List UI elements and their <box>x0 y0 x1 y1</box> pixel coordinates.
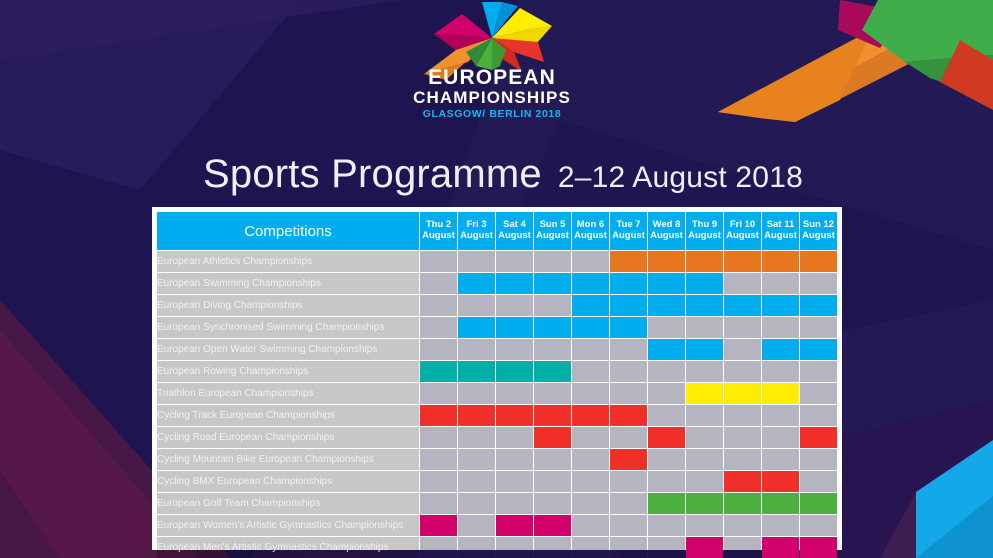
header-day-8: Thu 9August <box>686 212 723 250</box>
schedule-cell-empty <box>458 339 495 360</box>
schedule-cell-empty <box>496 383 533 404</box>
schedule-cell-orange <box>648 251 685 272</box>
schedule-cell-cyan <box>610 295 647 316</box>
schedule-cell-cyan <box>648 339 685 360</box>
schedule-cell-teal <box>458 361 495 382</box>
schedule-cell-teal <box>534 361 571 382</box>
schedule-cell-empty <box>648 537 685 558</box>
schedule-grid: Competitions Thu 2AugustFri 3AugustSat 4… <box>156 211 838 558</box>
schedule-cell-empty <box>420 493 457 514</box>
schedule-cell-green <box>648 493 685 514</box>
page-title-dates: 2–12 August 2018 <box>558 161 803 195</box>
schedule-cell-empty <box>610 537 647 558</box>
page-title: Sports Programme 2–12 August 2018 <box>203 152 803 197</box>
schedule-cell-empty <box>534 383 571 404</box>
schedule-cell-empty <box>458 471 495 492</box>
competition-label: European Golf Team Championships <box>157 493 419 514</box>
schedule-cell-empty <box>724 317 761 338</box>
competition-label: Cycling Mountain Bike European Champions… <box>157 449 419 470</box>
schedule-cell-cyan <box>496 273 533 294</box>
header-day-month: August <box>648 231 685 242</box>
competition-label: European Men's Artistic Gymnastics Champ… <box>157 537 419 558</box>
header-day-month: August <box>534 231 571 242</box>
schedule-cell-empty <box>420 427 457 448</box>
schedule-cell-red <box>724 471 761 492</box>
schedule-cell-empty <box>572 449 609 470</box>
schedule-cell-cyan <box>648 295 685 316</box>
schedule-cell-empty <box>648 317 685 338</box>
header-day-7: Wed 8August <box>648 212 685 250</box>
header-day-2: Fri 3August <box>458 212 495 250</box>
schedule-cell-empty <box>724 405 761 426</box>
schedule-cell-empty <box>762 361 799 382</box>
table-row: European Men's Artistic Gymnastics Champ… <box>157 537 837 558</box>
schedule-cell-empty <box>724 537 761 558</box>
schedule-head: Competitions Thu 2AugustFri 3AugustSat 4… <box>157 212 837 250</box>
schedule-cell-empty <box>648 383 685 404</box>
schedule-cell-cyan <box>762 295 799 316</box>
header-row: Competitions Thu 2AugustFri 3AugustSat 4… <box>157 212 837 250</box>
schedule-cell-empty <box>496 537 533 558</box>
schedule-cell-empty <box>458 427 495 448</box>
schedule-cell-pink <box>686 537 723 558</box>
schedule-cell-cyan <box>648 273 685 294</box>
schedule-cell-orange <box>762 251 799 272</box>
schedule-cell-empty <box>686 449 723 470</box>
schedule-cell-empty <box>458 295 495 316</box>
schedule-cell-empty <box>800 471 837 492</box>
schedule-cell-empty <box>800 317 837 338</box>
page-title-main: Sports Programme <box>203 152 542 197</box>
schedule-cell-empty <box>420 317 457 338</box>
header-day-3: Sat 4August <box>496 212 533 250</box>
table-row: Cycling BMX European Championships <box>157 471 837 492</box>
schedule-cell-empty <box>800 449 837 470</box>
schedule-cell-teal <box>496 361 533 382</box>
schedule-cell-cyan <box>458 273 495 294</box>
schedule-cell-cyan <box>686 295 723 316</box>
schedule-cell-red <box>496 405 533 426</box>
schedule-cell-empty <box>762 273 799 294</box>
schedule-cell-empty <box>534 449 571 470</box>
schedule-cell-empty <box>762 317 799 338</box>
schedule-cell-cyan <box>762 339 799 360</box>
header-day-month: August <box>610 231 647 242</box>
schedule-cell-yellow <box>762 383 799 404</box>
schedule-cell-empty <box>610 493 647 514</box>
schedule-cell-empty <box>458 449 495 470</box>
competition-label: Cycling Track European Championships <box>157 405 419 426</box>
schedule-cell-pink <box>800 537 837 558</box>
schedule-cell-empty <box>534 493 571 514</box>
schedule-cell-red <box>800 427 837 448</box>
schedule-cell-empty <box>458 515 495 536</box>
schedule-cell-red <box>610 405 647 426</box>
european-championships-logo: EUROPEAN CHAMPIONSHIPS GLASGOW/ BERLIN 2… <box>406 0 578 124</box>
table-row: Cycling Track European Championships <box>157 405 837 426</box>
schedule-cell-pink <box>762 537 799 558</box>
schedule-cell-red <box>420 405 457 426</box>
schedule-cell-pink <box>534 515 571 536</box>
schedule-cell-empty <box>534 251 571 272</box>
schedule-cell-cyan <box>686 273 723 294</box>
schedule-cell-red <box>534 405 571 426</box>
schedule-cell-empty <box>572 471 609 492</box>
header-day-month: August <box>420 231 457 242</box>
schedule-cell-empty <box>534 295 571 316</box>
table-row: European Golf Team Championships <box>157 493 837 514</box>
schedule-cell-cyan <box>686 339 723 360</box>
schedule-cell-empty <box>458 537 495 558</box>
schedule-cell-empty <box>800 515 837 536</box>
table-row: European Swimming Championships <box>157 273 837 294</box>
schedule-cell-green <box>686 493 723 514</box>
schedule-cell-empty <box>496 493 533 514</box>
competition-label: Cycling Road European Championships <box>157 427 419 448</box>
table-row: European Open Water Swimming Championshi… <box>157 339 837 360</box>
schedule-cell-empty <box>458 493 495 514</box>
schedule-cell-empty <box>686 471 723 492</box>
schedule-cell-cyan <box>534 273 571 294</box>
header-day-month: August <box>724 231 761 242</box>
schedule-cell-empty <box>420 383 457 404</box>
schedule-cell-orange <box>686 251 723 272</box>
schedule-cell-pink <box>496 515 533 536</box>
schedule-cell-cyan <box>800 339 837 360</box>
schedule-cell-cyan <box>572 295 609 316</box>
table-row: Triathlon European Championships <box>157 383 837 404</box>
header-day-month: August <box>762 231 799 242</box>
schedule-cell-empty <box>496 427 533 448</box>
schedule-cell-empty <box>572 361 609 382</box>
schedule-cell-cyan <box>572 317 609 338</box>
header-day-10: Sat 11August <box>762 212 799 250</box>
competition-label: European Open Water Swimming Championshi… <box>157 339 419 360</box>
schedule-cell-empty <box>800 273 837 294</box>
schedule-cell-red <box>572 405 609 426</box>
schedule-cell-empty <box>420 537 457 558</box>
header-day-month: August <box>458 231 495 242</box>
schedule-cell-green <box>762 493 799 514</box>
schedule-cell-empty <box>420 295 457 316</box>
logo-text-european: EUROPEAN <box>406 66 578 90</box>
schedule-cell-red <box>610 449 647 470</box>
schedule-cell-cyan <box>534 317 571 338</box>
schedule-cell-empty <box>724 515 761 536</box>
header-day-month: August <box>686 231 723 242</box>
schedule-cell-empty <box>572 427 609 448</box>
schedule-cell-empty <box>610 383 647 404</box>
schedule-cell-empty <box>496 471 533 492</box>
schedule-cell-empty <box>610 471 647 492</box>
schedule-cell-empty <box>420 471 457 492</box>
schedule-cell-red <box>762 471 799 492</box>
header-day-1: Thu 2August <box>420 212 457 250</box>
table-row: European Diving Championships <box>157 295 837 316</box>
table-row: European Women's Artistic Gymnastics Cha… <box>157 515 837 536</box>
schedule-cell-empty <box>686 405 723 426</box>
schedule-cell-green <box>800 493 837 514</box>
schedule-cell-empty <box>724 361 761 382</box>
header-day-month: August <box>496 231 533 242</box>
table-row: European Athletics Championships <box>157 251 837 272</box>
schedule-cell-empty <box>648 515 685 536</box>
schedule-cell-empty <box>420 449 457 470</box>
table-row: Cycling Road European Championships <box>157 427 837 448</box>
schedule-cell-empty <box>724 449 761 470</box>
schedule-cell-empty <box>572 251 609 272</box>
competition-label: European Diving Championships <box>157 295 419 316</box>
schedule-cell-empty <box>496 295 533 316</box>
schedule-cell-empty <box>572 339 609 360</box>
schedule-cell-empty <box>648 449 685 470</box>
logo-text-championships: CHAMPIONSHIPS <box>406 88 578 108</box>
schedule-cell-empty <box>496 449 533 470</box>
schedule-cell-empty <box>762 515 799 536</box>
schedule-cell-empty <box>762 427 799 448</box>
competition-label: European Women's Artistic Gymnastics Cha… <box>157 515 419 536</box>
schedule-cell-green <box>724 493 761 514</box>
schedule-cell-cyan <box>724 295 761 316</box>
schedule-cell-empty <box>610 427 647 448</box>
schedule-cell-empty <box>534 471 571 492</box>
schedule-cell-cyan <box>572 273 609 294</box>
schedule-cell-cyan <box>610 273 647 294</box>
schedule-cell-orange <box>800 251 837 272</box>
schedule-cell-empty <box>420 339 457 360</box>
schedule-cell-empty <box>458 251 495 272</box>
header-day-month: August <box>572 231 609 242</box>
competition-label: European Athletics Championships <box>157 251 419 272</box>
header-day-5: Mon 6August <box>572 212 609 250</box>
schedule-cell-empty <box>762 449 799 470</box>
schedule-body: European Athletics ChampionshipsEuropean… <box>157 251 837 558</box>
schedule-cell-empty <box>648 405 685 426</box>
schedule-cell-pink <box>420 515 457 536</box>
schedule-cell-teal <box>420 361 457 382</box>
schedule-cell-empty <box>762 405 799 426</box>
competition-label: Cycling BMX European Championships <box>157 471 419 492</box>
table-row: European Synchronised Swimming Champions… <box>157 317 837 338</box>
competition-label: European Rowing Championships <box>157 361 419 382</box>
header-competitions: Competitions <box>157 212 419 250</box>
schedule-cell-orange <box>610 251 647 272</box>
schedule-cell-red <box>648 427 685 448</box>
poster-canvas: EUROPEAN CHAMPIONSHIPS GLASGOW/ BERLIN 2… <box>0 0 993 558</box>
schedule-cell-empty <box>724 339 761 360</box>
schedule-cell-red <box>534 427 571 448</box>
schedule-cell-empty <box>572 537 609 558</box>
schedule-cell-empty <box>724 427 761 448</box>
schedule-cell-empty <box>686 427 723 448</box>
schedule-cell-empty <box>610 361 647 382</box>
schedule-cell-empty <box>572 515 609 536</box>
header-day-month: August <box>800 231 837 242</box>
table-row: European Rowing Championships <box>157 361 837 382</box>
schedule-cell-empty <box>496 251 533 272</box>
competition-label: European Synchronised Swimming Champions… <box>157 317 419 338</box>
schedule-cell-red <box>458 405 495 426</box>
schedule-cell-cyan <box>458 317 495 338</box>
schedule-cell-orange <box>724 251 761 272</box>
logo-text-cities-year: GLASGOW/ BERLIN 2018 <box>406 108 578 120</box>
schedule-cell-empty <box>420 251 457 272</box>
schedule-cell-empty <box>458 383 495 404</box>
header-day-4: Sun 5August <box>534 212 571 250</box>
header-day-11: Sun 12August <box>800 212 837 250</box>
schedule-cell-cyan <box>496 317 533 338</box>
table-row: Cycling Mountain Bike European Champions… <box>157 449 837 470</box>
header-day-9: Fri 10August <box>724 212 761 250</box>
schedule-cell-empty <box>534 339 571 360</box>
schedule-cell-empty <box>686 317 723 338</box>
schedule-cell-cyan <box>800 295 837 316</box>
schedule-cell-yellow <box>686 383 723 404</box>
schedule-cell-empty <box>800 361 837 382</box>
schedule-cell-empty <box>648 471 685 492</box>
competition-label: European Swimming Championships <box>157 273 419 294</box>
schedule-cell-empty <box>534 537 571 558</box>
schedule-cell-empty <box>648 361 685 382</box>
schedule-cell-empty <box>610 515 647 536</box>
schedule-cell-empty <box>800 405 837 426</box>
schedule-cell-yellow <box>724 383 761 404</box>
schedule-cell-empty <box>572 383 609 404</box>
header-day-6: Tue 7August <box>610 212 647 250</box>
schedule-cell-cyan <box>610 317 647 338</box>
schedule-cell-empty <box>686 515 723 536</box>
schedule-cell-empty <box>686 361 723 382</box>
sports-programme-table: Competitions Thu 2AugustFri 3AugustSat 4… <box>152 207 842 550</box>
schedule-cell-empty <box>420 273 457 294</box>
schedule-cell-empty <box>724 273 761 294</box>
schedule-cell-empty <box>496 339 533 360</box>
competition-label: Triathlon European Championships <box>157 383 419 404</box>
schedule-cell-empty <box>800 383 837 404</box>
schedule-cell-empty <box>610 339 647 360</box>
schedule-cell-empty <box>572 493 609 514</box>
